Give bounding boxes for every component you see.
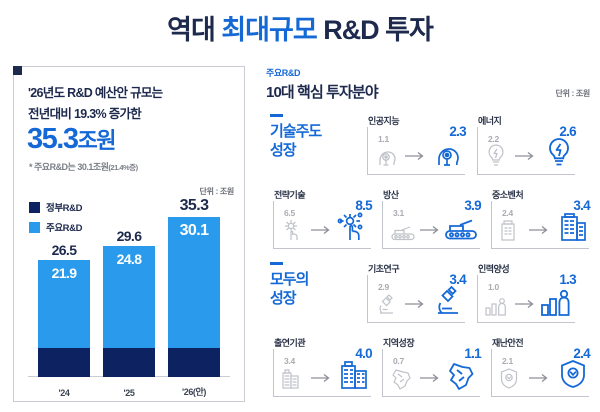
headline-number: 35.3 — [27, 123, 77, 155]
cell-axis-horizontal — [382, 248, 480, 249]
bar-segment-gov — [38, 348, 90, 377]
cell-before-value: 2.9 — [378, 282, 389, 292]
ai-head-icon — [432, 136, 464, 173]
cell-label: 인공지능 — [368, 114, 399, 127]
arrow-right-icon — [528, 370, 550, 380]
investment-cell-basic-research: 기초연구 2.9 3.4 — [364, 262, 468, 324]
cell-axis-horizontal — [477, 174, 575, 175]
section-line-2: 성장 — [270, 289, 358, 308]
section-line-2: 성장 — [270, 141, 358, 160]
cell-after-value: 1.1 — [464, 346, 481, 361]
shield-check-icon — [498, 366, 520, 395]
headline-value: 35.3조원 — [27, 125, 115, 154]
korea-map-icon — [389, 366, 415, 395]
lead-line-2: 전년대비 19.3% 증가한 — [28, 104, 238, 125]
lead-text: '26년도 R&D 예산안 규모는 전년대비 19.3% 증가한 — [28, 83, 238, 125]
arrow-right-icon — [419, 370, 441, 380]
section-dash-icon — [270, 114, 283, 117]
right-panel-title: 10대 핵심 투자분야 — [266, 81, 592, 102]
bar-segment-major: 30.1 — [168, 217, 220, 348]
arrow-right-icon — [404, 148, 426, 158]
bar-segment-gov — [103, 348, 155, 377]
cell-before-value: 2.4 — [502, 208, 513, 218]
institute-building-icon — [280, 366, 302, 395]
tank-icon — [443, 216, 479, 247]
investment-cell-energy: 에너지 2.2 2.6 — [474, 114, 578, 176]
bar-segment-major: 21.9 — [38, 260, 90, 348]
bar-stack: 30.1 — [168, 217, 220, 377]
arrow-right-icon — [514, 296, 536, 306]
tank-icon — [389, 222, 417, 247]
title-part2: R&D 투자 — [317, 15, 433, 45]
cell-axis-horizontal — [491, 396, 589, 397]
investment-cell-sme-venture: 중소벤처 2.4 3.4 — [488, 188, 592, 250]
office-building-icon — [558, 210, 588, 247]
cell-axis-horizontal — [491, 248, 589, 249]
bar-stack: 21.9 — [38, 260, 90, 377]
key-investment-areas-panel: 주요R&D 10대 핵심 투자분야 단위 : 조원 기술주도 성장 모두의 성장… — [266, 66, 592, 406]
cell-axis-horizontal — [382, 396, 480, 397]
cell-label: 중소벤처 — [492, 188, 523, 201]
lightbulb-bolt-icon — [484, 142, 508, 173]
investment-cell-ai: 인공지능 1.1 2.3 — [364, 114, 468, 176]
bar-major-label: 24.8 — [103, 251, 155, 267]
shield-check-icon — [558, 358, 588, 395]
bar-total-label: 26.5 — [38, 242, 90, 258]
cell-axis-vertical — [477, 275, 478, 323]
title-highlight: 최대규모 — [221, 15, 316, 45]
investment-cell-regional-growth: 지역성장 0.7 1.1 — [379, 336, 483, 398]
cell-before-value: 3.1 — [393, 208, 404, 218]
cell-label: 지역성장 — [383, 336, 414, 349]
investment-cell-research-institutes: 출연기관 3.4 4.0 — [270, 336, 374, 398]
cell-axis-vertical — [367, 275, 368, 323]
cell-label: 기초연구 — [368, 262, 399, 275]
lead-line-1: '26년도 R&D 예산안 규모는 — [28, 83, 238, 104]
cell-axis-vertical — [491, 201, 492, 249]
bar-x-label: '24 — [38, 388, 90, 398]
cell-axis-horizontal — [367, 174, 465, 175]
arrow-right-icon — [310, 222, 332, 232]
bar-total-label: 29.6 — [103, 228, 155, 244]
cell-label: 방산 — [383, 188, 399, 201]
cell-axis-vertical — [477, 127, 478, 175]
cell-label: 인력양성 — [478, 262, 509, 275]
investment-cell-talent-development: 인력양성 1.0 1.3 — [474, 262, 578, 324]
cell-label: 에너지 — [478, 114, 501, 127]
person-bars-icon — [540, 286, 574, 321]
right-unit-label: 단위 : 조원 — [556, 88, 590, 99]
touch-network-icon — [336, 210, 370, 247]
person-bars-icon — [484, 294, 512, 321]
cell-axis-vertical — [273, 349, 274, 397]
section-label-growth-for-all: 모두의 성장 — [270, 262, 358, 308]
cell-after-value: 3.9 — [464, 198, 481, 213]
cell-axis-horizontal — [477, 322, 575, 323]
bar-total-label: 35.3 — [168, 197, 220, 215]
title-part1: 역대 — [167, 15, 221, 45]
korea-map-icon — [445, 360, 479, 395]
cell-axis-vertical — [382, 201, 383, 249]
office-building-icon — [498, 218, 518, 247]
lightbulb-bolt-icon — [544, 136, 574, 173]
investment-cell-strategic-tech: 전략기술 6.5 8.5 — [270, 188, 374, 250]
arrow-right-icon — [419, 222, 441, 232]
cell-axis-horizontal — [367, 322, 465, 323]
cell-label: 전략기술 — [274, 188, 305, 201]
investment-cell-disaster-safety: 재난안전 2.1 2.4 — [488, 336, 592, 398]
arrow-right-icon — [404, 296, 426, 306]
cell-axis-vertical — [491, 349, 492, 397]
bar-x-label: '26(안) — [168, 385, 220, 398]
arrow-right-icon — [528, 222, 550, 232]
bar-stack: 24.8 — [103, 246, 155, 377]
cell-label: 재난안전 — [492, 336, 523, 349]
cell-before-value: 1.0 — [488, 282, 499, 292]
section-line-1: 기술주도 — [270, 122, 358, 141]
rnd-budget-bar-chart: 26.5 21.9 '24 29.6 24.8 '25 35.3 — [14, 161, 244, 401]
microscope-icon — [432, 284, 464, 321]
cell-before-value: 3.4 — [284, 356, 295, 366]
headline-unit: 조원 — [77, 128, 114, 153]
budget-summary-panel: '26년도 R&D 예산안 규모는 전년대비 19.3% 증가한 35.3조원 … — [13, 66, 245, 402]
touch-network-icon — [280, 216, 306, 247]
bar-major-label: 21.9 — [38, 265, 90, 281]
cell-axis-vertical — [273, 201, 274, 249]
arrow-right-icon — [310, 370, 332, 380]
bar-x-label: '25 — [103, 388, 155, 398]
page-title: 역대 최대규모 R&D 투자 — [0, 8, 600, 47]
section-line-1: 모두의 — [270, 270, 358, 289]
cell-after-value: 1.3 — [559, 272, 576, 287]
cell-axis-vertical — [367, 127, 368, 175]
right-panel-subtitle: 주요R&D — [266, 66, 592, 79]
bar-major-label: 30.1 — [168, 222, 220, 240]
cell-label: 출연기관 — [274, 336, 305, 349]
microscope-icon — [374, 292, 398, 321]
cell-axis-horizontal — [273, 396, 371, 397]
cell-before-value: 0.7 — [393, 356, 404, 366]
cell-before-value: 2.1 — [502, 356, 513, 366]
cell-axis-vertical — [382, 349, 383, 397]
ai-head-icon — [374, 142, 400, 173]
section-dash-icon — [270, 262, 283, 265]
section-label-tech-growth: 기술주도 성장 — [270, 114, 358, 160]
cell-axis-horizontal — [273, 248, 371, 249]
investment-cell-defense: 방산 3.1 3.9 — [379, 188, 483, 250]
institute-building-icon — [338, 358, 370, 395]
bar-segment-gov — [168, 348, 220, 377]
corner-marker-icon — [13, 66, 22, 75]
bar-segment-major: 24.8 — [103, 246, 155, 348]
arrow-right-icon — [514, 148, 536, 158]
